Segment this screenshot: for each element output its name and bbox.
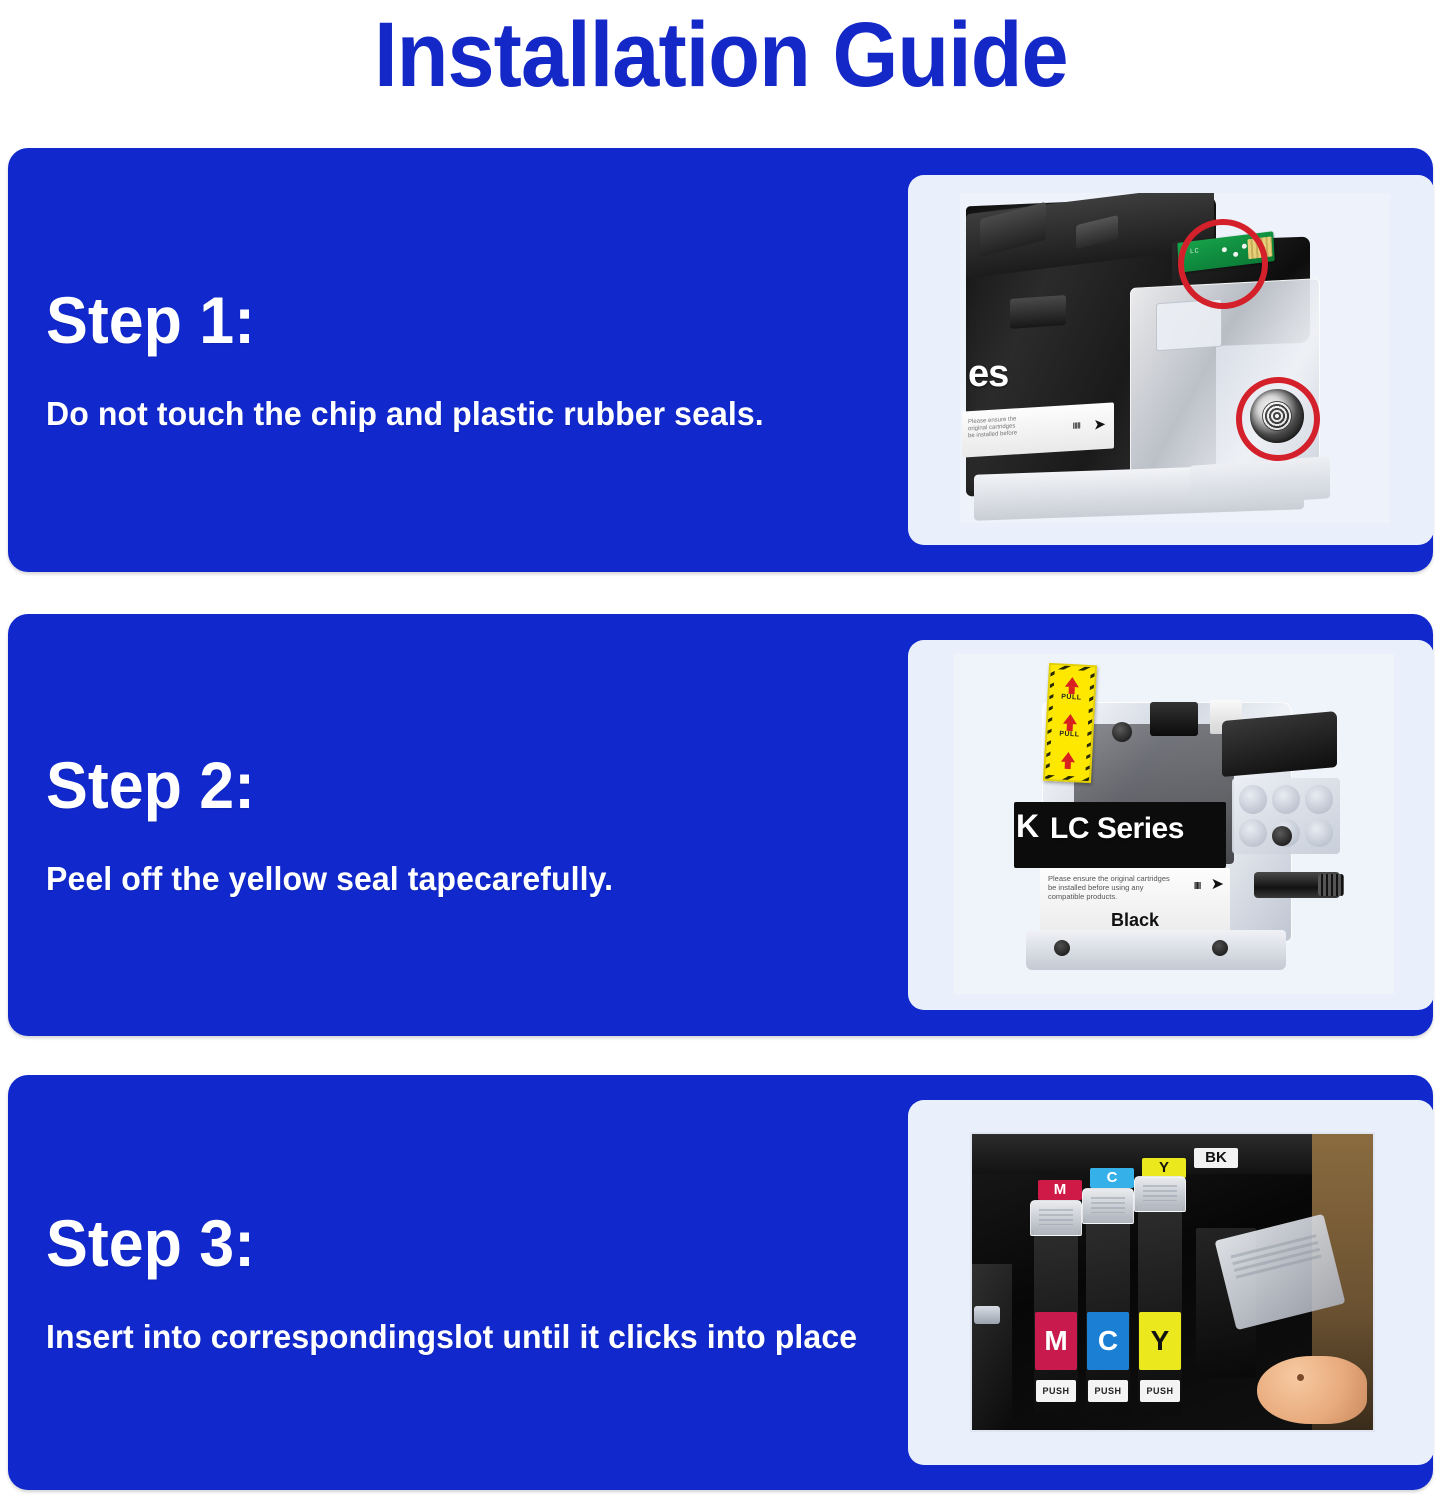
arrow-right-icon: ➤ [1093, 417, 1106, 433]
cartridge-screw [1212, 940, 1228, 956]
step-2-heading: Step 2: [46, 752, 844, 818]
cartridge-cyan: C PUSH [1086, 1218, 1130, 1416]
port-hole [1239, 785, 1267, 814]
seal-highlight-circle [1236, 377, 1320, 461]
step-1-heading: Step 1: [46, 287, 844, 353]
cartridge-face-label-y: Y [1139, 1312, 1181, 1370]
warning-label-text: Please ensure theoriginal cartridgesbe i… [968, 416, 1017, 440]
printer-grey-tab-shape [974, 1306, 1000, 1324]
hand-finger-shape [1257, 1356, 1367, 1424]
printer-left-edge-shape [972, 1264, 1012, 1432]
cartridge-dark-block-shape [1150, 702, 1198, 736]
pull-marker: PULL [1059, 714, 1081, 739]
cartridge-screw [1054, 940, 1070, 956]
cartridge-yellow: Y PUSH [1138, 1206, 1182, 1416]
port-hole [1272, 785, 1300, 814]
chip-highlight-circle [1178, 219, 1268, 309]
cartridge-nozzle-shape [1254, 872, 1340, 898]
push-label-y: PUSH [1140, 1380, 1180, 1402]
arrow-right-icon: ➤ [1211, 877, 1224, 893]
step-card-3: Step 3: Insert into correspondingslot un… [8, 1075, 1433, 1490]
cartridge-warning-label: Please ensure theoriginal cartridgesbe i… [962, 402, 1114, 457]
port-hole [1305, 819, 1333, 848]
page-title: Installation Guide [374, 9, 1068, 101]
barcode-icon: IIIII [1194, 881, 1200, 892]
slot-label-y: Y [1142, 1158, 1186, 1178]
pull-label: PULL [1059, 731, 1080, 739]
cartridge-partial-label-text: es [968, 353, 1008, 396]
step-1-image-panel: LC es Please ensure theoriginal cartridg… [908, 175, 1434, 545]
cartridge-magenta: M PUSH [1034, 1230, 1078, 1416]
port-hole [1305, 785, 1333, 814]
step-3-heading: Step 3: [46, 1210, 844, 1276]
step-3-text-block: Step 3: Insert into correspondingslot un… [46, 1075, 886, 1490]
warning-label-text: Please ensure the original cartridges be… [1048, 874, 1176, 901]
slot-label-bk: BK [1194, 1148, 1238, 1168]
cartridge-hole [1112, 722, 1132, 742]
arrow-up-icon [1061, 752, 1076, 763]
arrow-up-icon [1065, 677, 1080, 688]
step-1-description: Do not touch the chip and plastic rubber… [46, 395, 861, 433]
slot-label-m: M [1038, 1180, 1082, 1200]
step-2-image-panel: PULL PULL K LC [908, 640, 1434, 1010]
cartridge-face-label-c: C [1087, 1312, 1129, 1370]
cartridge-handle-shape [1030, 1200, 1082, 1236]
pull-marker: PULL [1061, 676, 1083, 701]
cartridge-dark-top-shape [1222, 711, 1337, 777]
yellow-pull-tape: PULL PULL [1043, 663, 1097, 783]
finger-mole-mark [1297, 1374, 1304, 1381]
cartridge-tab-secondary-shape [1076, 215, 1118, 249]
step-card-1: Step 1: Do not touch the chip and plasti… [8, 148, 1433, 572]
pull-tape-inner: PULL PULL [1049, 669, 1090, 777]
push-label-m: PUSH [1036, 1380, 1076, 1402]
arrow-stem-shape [1065, 762, 1071, 769]
step-2-description: Peel off the yellow seal tapecarefully. [46, 860, 861, 898]
cartridge-face-label-m: M [1035, 1312, 1077, 1370]
pull-label: PULL [1061, 693, 1082, 701]
step-3-image-panel: M C Y BK M PUSH C PUSH Y [908, 1100, 1434, 1465]
arrow-up-icon [1063, 714, 1078, 725]
cartridge-hole [1272, 826, 1292, 846]
cartridge-handle-shape [1082, 1188, 1134, 1224]
step-3-description: Insert into correspondingslot until it c… [46, 1318, 861, 1356]
barcode-icon: IIIII [1072, 420, 1080, 430]
cartridge-color-name: Black [1040, 910, 1230, 931]
cartridge-slot-shape [1010, 295, 1066, 329]
cartridge-chip-and-seal-photo: LC es Please ensure theoriginal cartridg… [960, 193, 1390, 523]
installation-guide-page: Installation Guide Step 1: Do not touch … [0, 0, 1441, 1500]
cartridge-k-mark: K [1016, 808, 1039, 845]
step-1-text-block: Step 1: Do not touch the chip and plasti… [46, 148, 886, 572]
slot-label-c: C [1090, 1168, 1134, 1188]
push-label-c: PUSH [1088, 1380, 1128, 1402]
nozzle-tip-shape [1318, 874, 1344, 896]
cartridge-handle-shape [1134, 1176, 1186, 1212]
step-2-text-block: Step 2: Peel off the yellow seal tapecar… [46, 614, 886, 1036]
lc-series-black-cartridge-photo: PULL PULL K LC [954, 654, 1394, 994]
cartridge-foot-shape [1190, 456, 1330, 508]
cartridge-series-label: LC Series [1050, 812, 1184, 846]
title-bar: Installation Guide [0, 0, 1441, 110]
printer-cartridge-slots-photo: M C Y BK M PUSH C PUSH Y [970, 1132, 1375, 1432]
step-card-2: Step 2: Peel off the yellow seal tapecar… [8, 614, 1433, 1036]
port-hole [1239, 819, 1267, 848]
pull-marker [1061, 752, 1076, 770]
